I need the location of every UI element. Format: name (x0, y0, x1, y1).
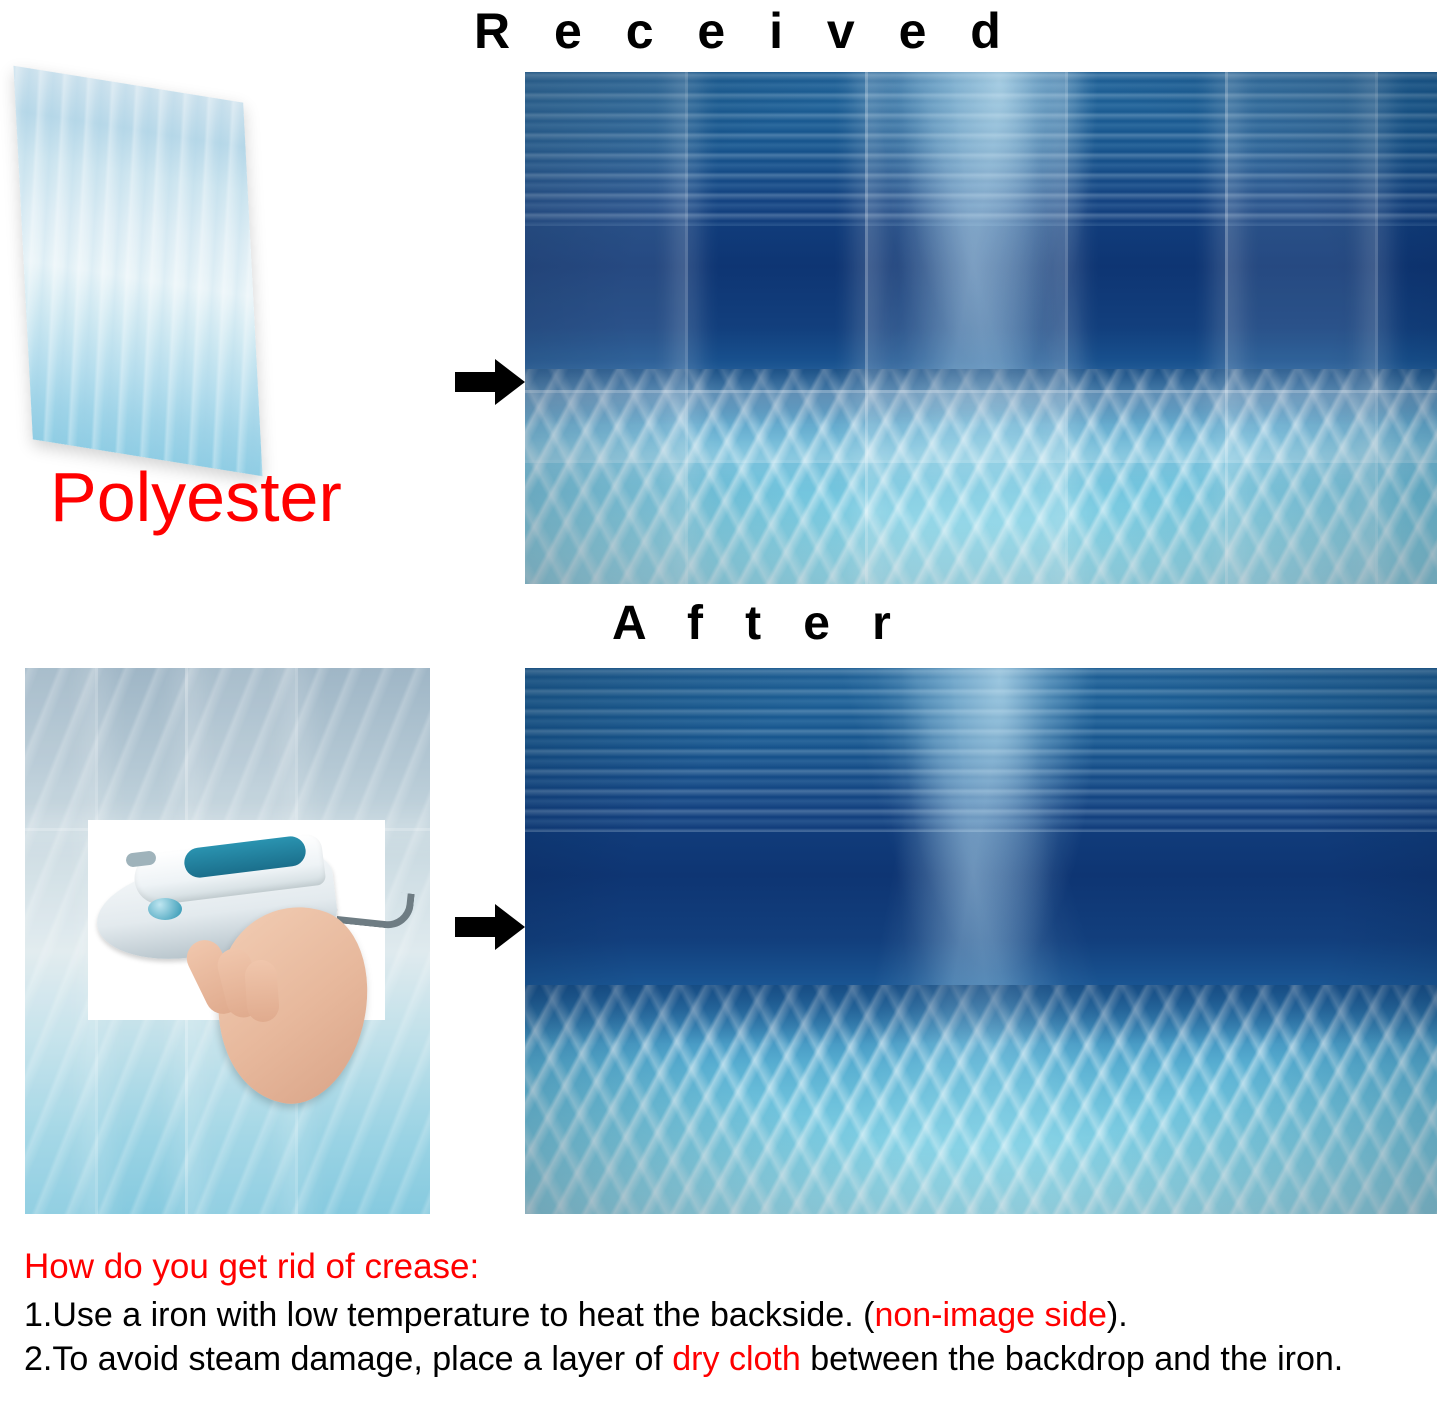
photo-vignette (525, 72, 1437, 584)
iron-knob (148, 898, 182, 920)
instruction-line-2-part-a: 2.To avoid steam damage, place a layer o… (24, 1340, 672, 1378)
instruction-line-2-part-b: between the backdrop and the iron. (801, 1340, 1344, 1378)
arrow-right-icon (455, 355, 525, 409)
polyester-sheet (13, 66, 262, 476)
received-backdrop-photo (525, 72, 1437, 584)
instructions-title: How do you get rid of crease: (24, 1245, 1419, 1289)
arrow-right-icon (455, 900, 525, 954)
received-heading: R e c e i v e d (474, 2, 1016, 60)
instruction-line-1-part-a: 1.Use a iron with low temperature to hea… (24, 1296, 874, 1334)
infographic-canvas: R e c e i v e d Polyester A f t e r (0, 0, 1437, 1401)
instruction-line-1: 1.Use a iron with low temperature to hea… (24, 1293, 1419, 1337)
after-backdrop-photo (525, 668, 1437, 1214)
steam-iron-photo-inset (88, 820, 385, 1020)
instruction-line-2-highlight: dry cloth (672, 1340, 801, 1378)
after-heading: A f t e r (612, 596, 905, 652)
care-instructions: How do you get rid of crease: 1.Use a ir… (24, 1245, 1419, 1381)
fabric-sample-photo (5, 70, 445, 490)
polyester-label: Polyester (50, 458, 342, 536)
instruction-line-1-part-b: ). (1107, 1296, 1128, 1334)
finger (244, 959, 280, 1023)
instruction-line-1-highlight: non-image side (874, 1296, 1106, 1334)
photo-vignette (525, 668, 1437, 1214)
instruction-line-2: 2.To avoid steam damage, place a layer o… (24, 1337, 1419, 1381)
